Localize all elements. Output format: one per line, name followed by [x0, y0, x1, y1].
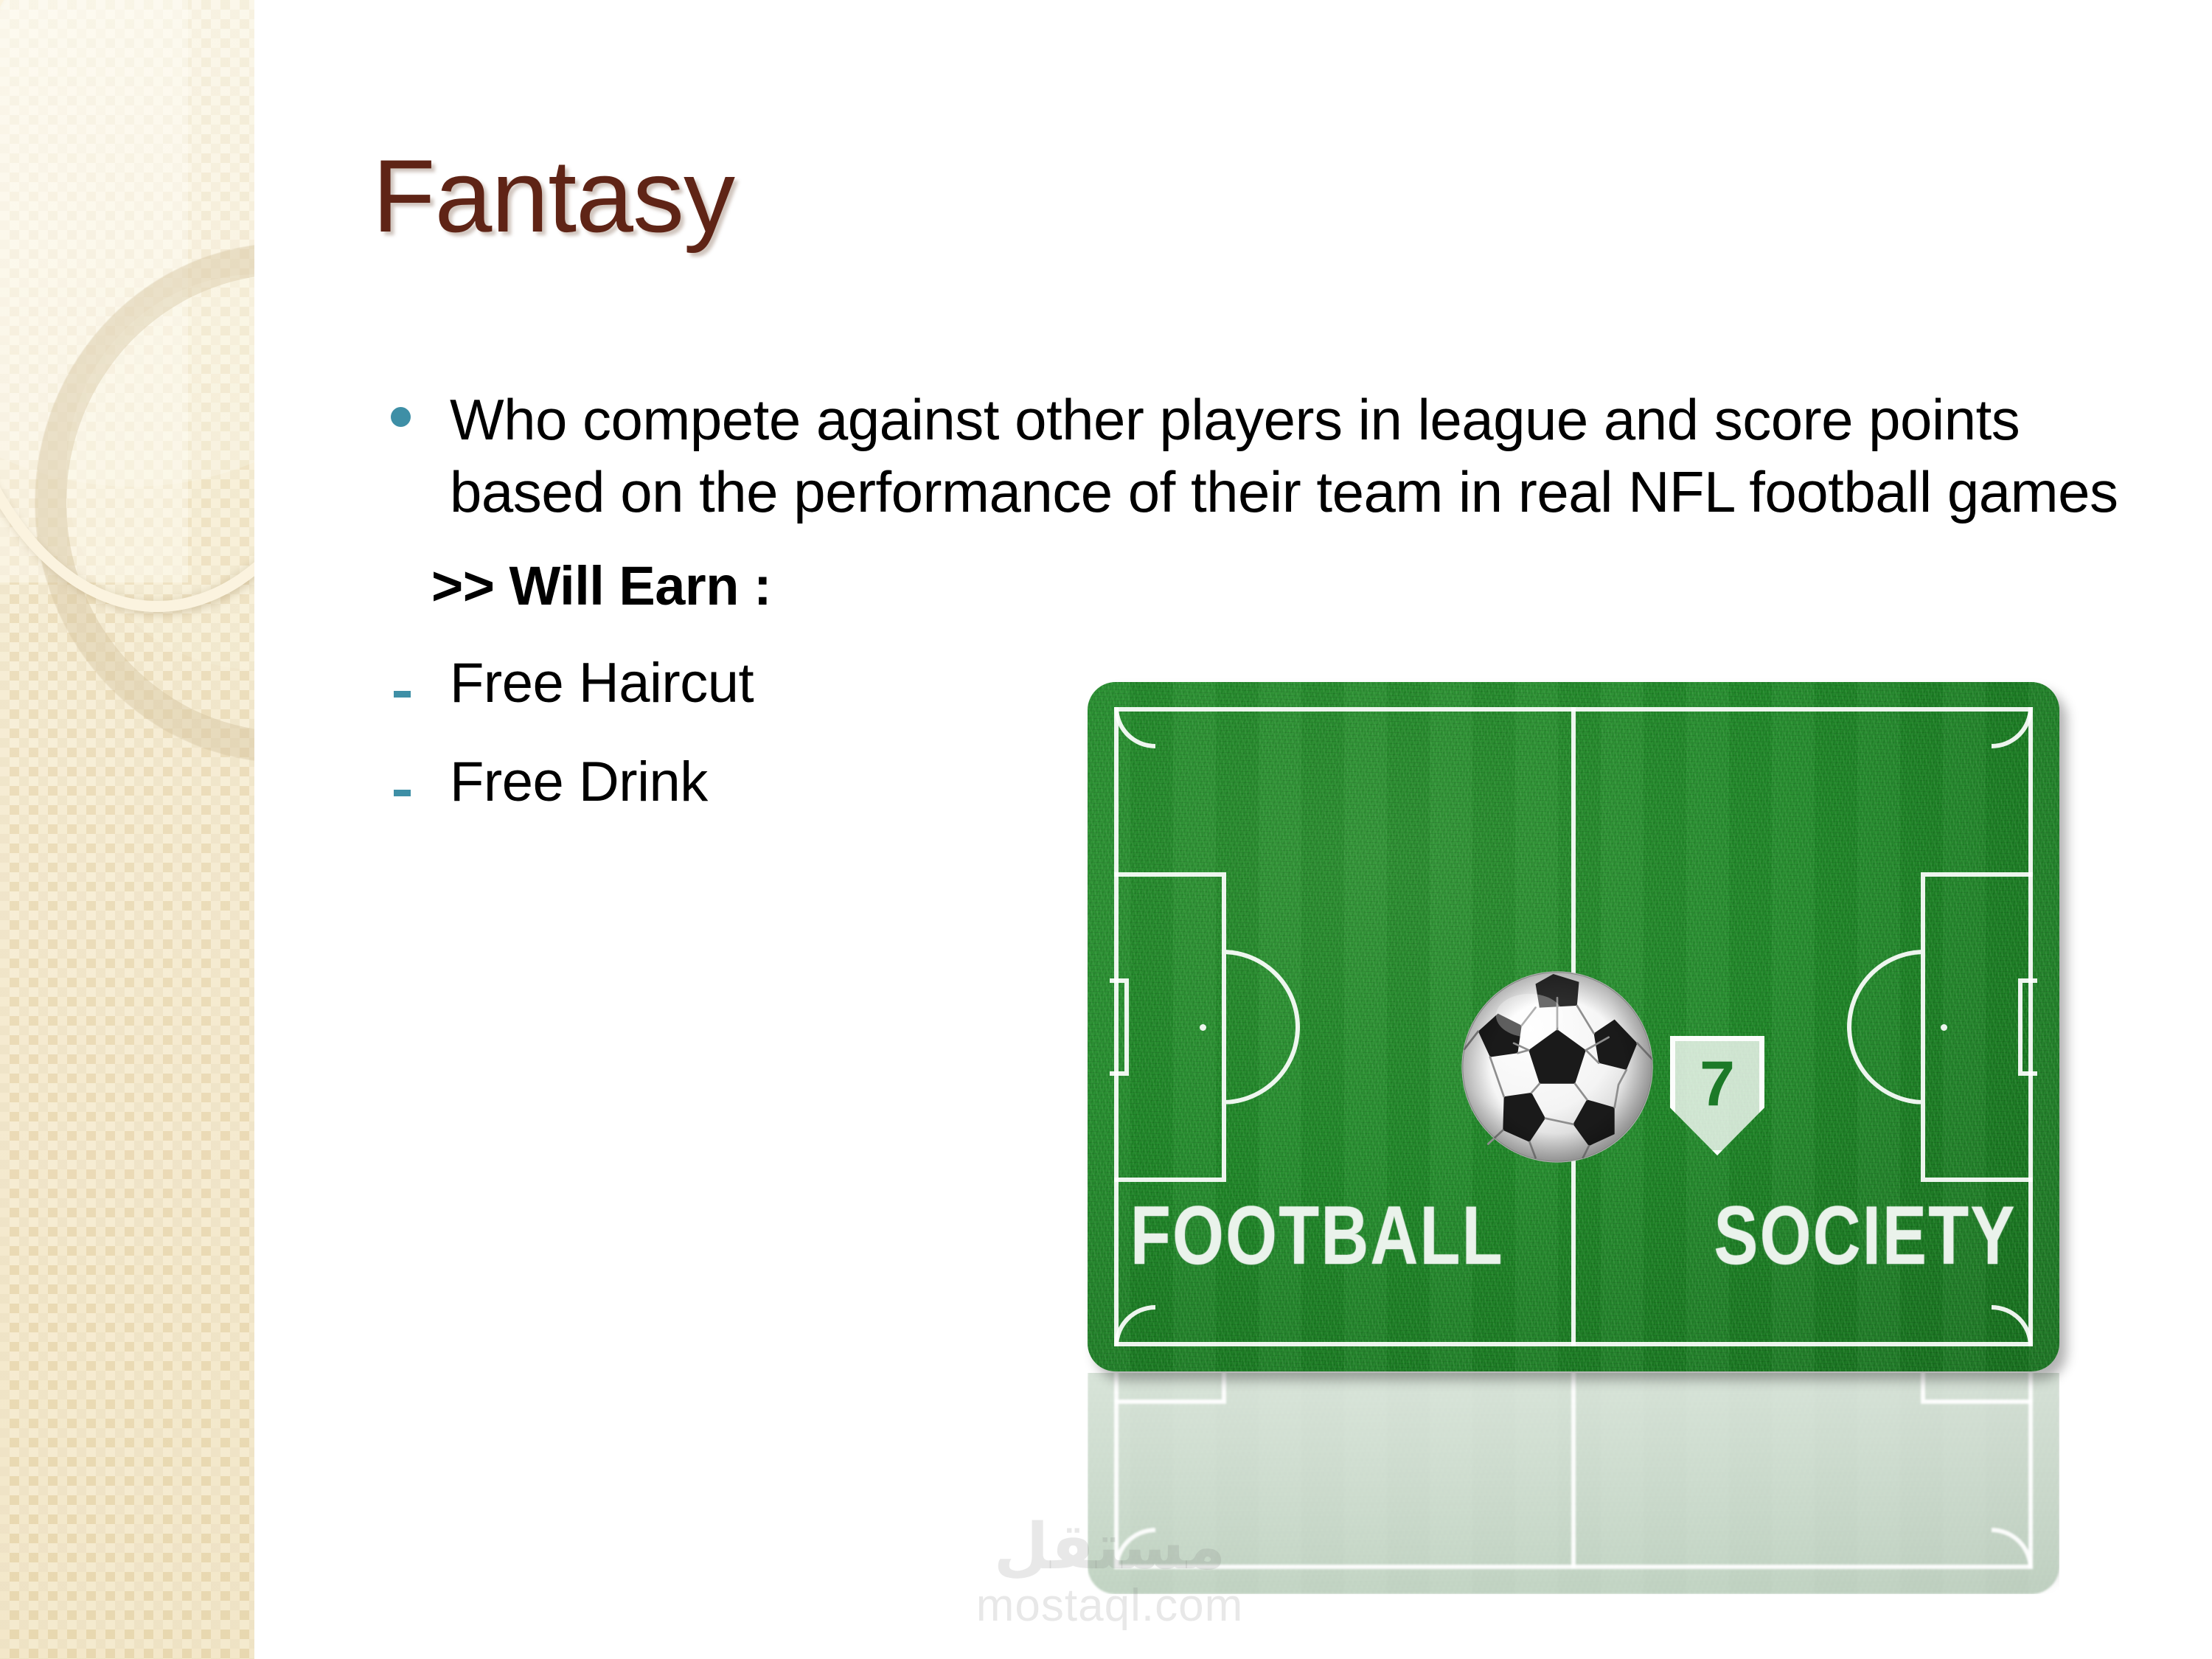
corner-arc-top-left [1114, 1528, 1155, 1569]
slide-canvas: Fantasy Who compete against other player… [0, 0, 2212, 1659]
sidebar-thin-ring [0, 0, 254, 612]
page-title: Fantasy [372, 145, 734, 248]
watermark: مستقل mostaql.com [951, 1515, 1268, 1629]
penalty-box-right [1921, 872, 2033, 1182]
team-shield-badge: 7 [1670, 1036, 1764, 1155]
will-earn-heading: >> Will Earn : [431, 554, 2190, 619]
corner-arc-top-right [1992, 1528, 2033, 1569]
touchline-marking [1114, 1373, 2033, 1569]
field-reflection: FOOTBALL SOCIETY [1088, 1373, 2059, 1594]
dash-bullet-icon [394, 790, 411, 796]
goal-box-right [2018, 978, 2037, 1076]
list-item: Who compete against other players in lea… [391, 383, 2190, 529]
grass-mow-bands [1088, 1373, 2059, 1594]
field-chalk-text-right: SOCIETY [1714, 1188, 2017, 1283]
penalty-spot-right [1941, 1024, 1947, 1031]
dash-bullet-icon [394, 691, 411, 698]
grass-texture [1088, 1373, 2059, 1594]
field-chalk-text-left: FOOTBALL [1130, 1188, 1504, 1283]
bullet-text: Who compete against other players in lea… [450, 383, 2190, 529]
decorative-sidebar [0, 0, 254, 1659]
penalty-spot-left [1200, 1024, 1206, 1031]
soccer-ball-icon [1458, 968, 1656, 1166]
bullet-dot-icon [391, 407, 411, 427]
football-field-image: 7 [1088, 682, 2059, 1371]
field-reflection-copy: FOOTBALL SOCIETY [1088, 1373, 2059, 1594]
penalty-box-left [1114, 872, 1226, 1182]
watermark-arabic-text: مستقل [951, 1515, 1268, 1579]
shield-number: 7 [1670, 1036, 1764, 1155]
goal-box-left [1110, 978, 1129, 1076]
penalty-box-left [1114, 1373, 1226, 1405]
football-field-reflected: FOOTBALL SOCIETY [1088, 1373, 2059, 1594]
watermark-domain-text: mostaql.com [951, 1583, 1268, 1629]
football-pitch: 7 [1088, 682, 2059, 1371]
halfway-line-marking [1571, 1373, 1576, 1569]
penalty-box-right [1921, 1373, 2033, 1405]
